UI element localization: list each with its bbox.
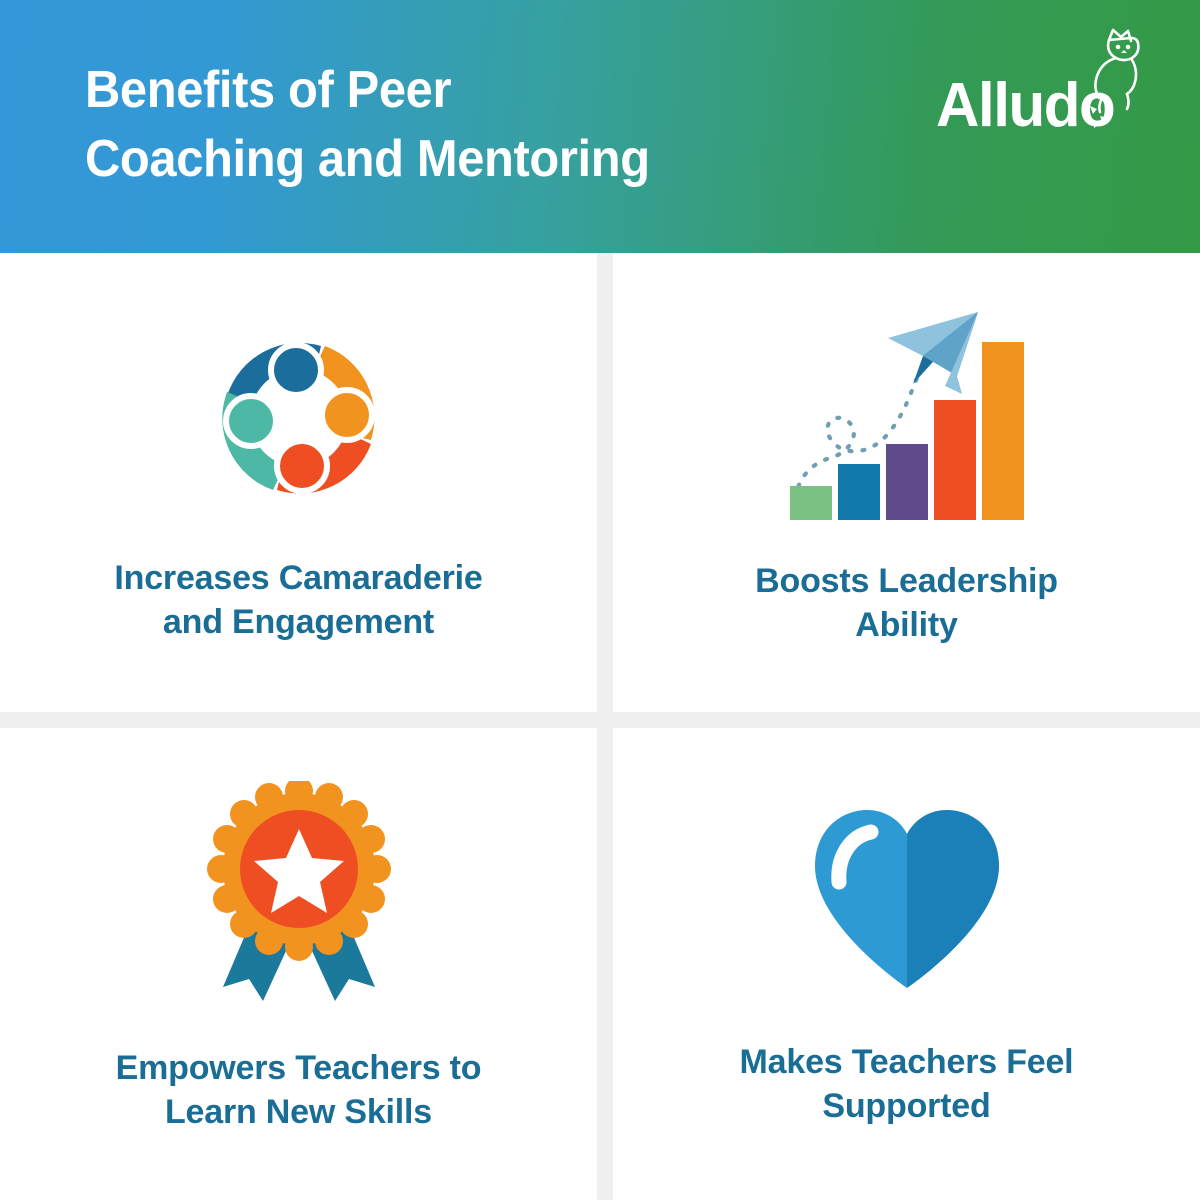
heart-icon	[809, 806, 1005, 992]
header-banner: Benefits of Peer Coaching and Mentoring …	[0, 0, 1200, 253]
benefit-card-new-skills[interactable]: Empowers Teachers to Learn New Skills	[0, 728, 597, 1200]
heart-right-half	[907, 810, 999, 988]
bar-5	[982, 342, 1024, 520]
grid-divider-center	[597, 712, 613, 728]
card-title: Increases Camaraderie and Engagement	[36, 556, 561, 644]
alludo-logo[interactable]: Alludo	[922, 28, 1142, 153]
benefit-card-leadership[interactable]: Boosts Leadership Ability	[613, 253, 1200, 712]
growth-chart-paper-plane-icon	[782, 298, 1032, 530]
grid-divider-vertical-top	[597, 253, 613, 712]
card-title: Empowers Teachers to Learn New Skills	[36, 1046, 561, 1134]
paper-plane	[888, 312, 978, 394]
card-title: Makes Teachers Feel Supported	[648, 1040, 1165, 1128]
benefits-grid: Increases Camaraderie and Engagement	[0, 253, 1200, 1200]
card-icon-wrapper	[782, 295, 1032, 533]
cat-icon	[1064, 28, 1142, 132]
card-title: Boosts Leadership Ability	[648, 559, 1165, 647]
infographic-root: Benefits of Peer Coaching and Mentoring …	[0, 0, 1200, 1200]
benefit-card-supported[interactable]: Makes Teachers Feel Supported	[613, 728, 1200, 1200]
grid-divider-horizontal-right	[613, 712, 1200, 728]
benefit-card-camaraderie[interactable]: Increases Camaraderie and Engagement	[0, 253, 597, 712]
grid-divider-horizontal-left	[0, 712, 597, 728]
page-title: Benefits of Peer Coaching and Mentoring	[85, 56, 799, 193]
bar-2	[838, 464, 880, 520]
award-ribbon-star-icon	[201, 781, 397, 1005]
bar-1	[790, 486, 832, 520]
bar-4	[934, 400, 976, 520]
people-circle-icon	[199, 318, 399, 518]
card-icon-wrapper	[809, 790, 1005, 1008]
card-icon-wrapper	[201, 768, 397, 1018]
bar-3	[886, 444, 928, 520]
card-icon-wrapper	[199, 303, 399, 533]
